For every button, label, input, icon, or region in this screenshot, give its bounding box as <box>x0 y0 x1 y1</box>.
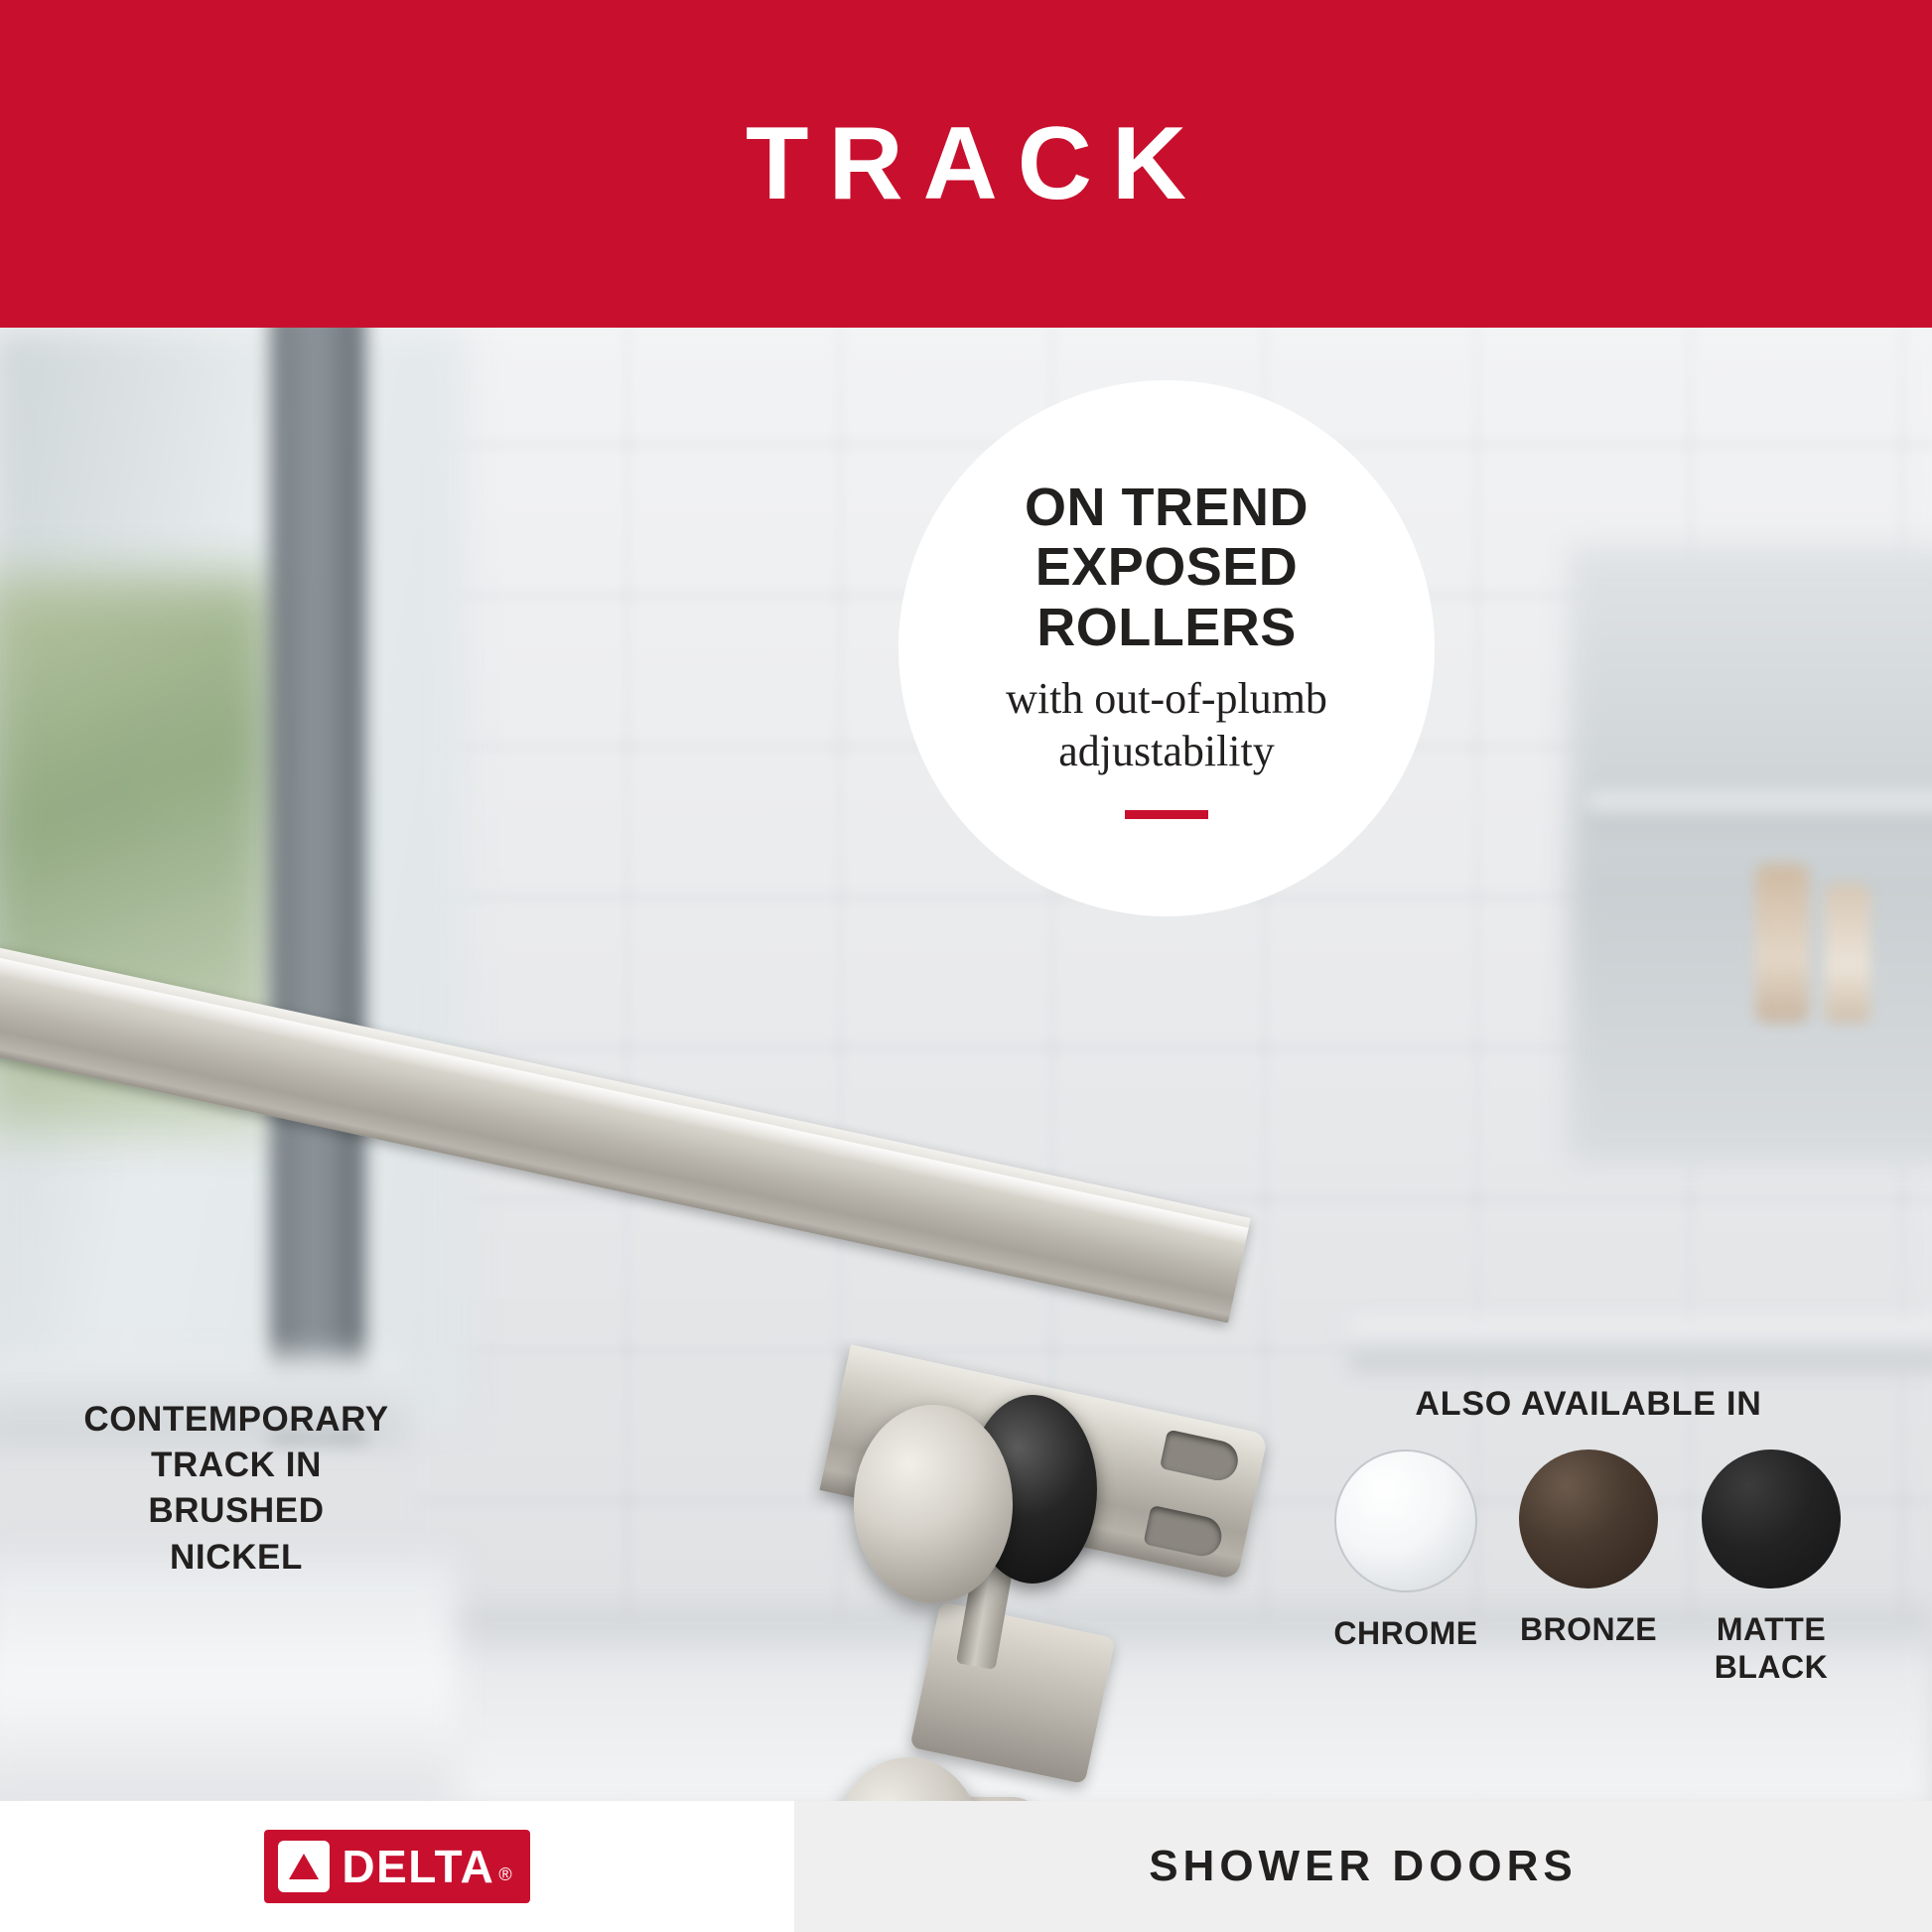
top-banner: TRACK <box>0 0 1932 328</box>
callout-heading-line-2: EXPOSED ROLLERS <box>898 537 1435 657</box>
finish-option-chrome: CHROME <box>1336 1449 1475 1687</box>
callout-subheading-line-1: with out-of-plumb <box>1006 673 1327 726</box>
matte-black-swatch-icon <box>1702 1449 1841 1588</box>
caption-line-2: TRACK IN <box>77 1443 395 1488</box>
guide-hook-disc <box>834 1757 983 1801</box>
finish-option-bronze: BRONZE <box>1519 1449 1658 1687</box>
delta-logo: DELTA ® <box>264 1830 529 1903</box>
page-title: TRACK <box>726 105 1206 223</box>
available-finishes: ALSO AVAILABLE IN CHROME BRONZE MATTE BL… <box>1320 1385 1857 1687</box>
product-hero-image: TRACK <box>0 0 1932 1932</box>
registered-trademark-icon: ® <box>498 1864 511 1885</box>
callout-subheading-line-2: adjustability <box>1006 726 1327 778</box>
footer-tagline: SHOWER DOORS <box>1149 1842 1578 1891</box>
delta-wordmark: DELTA <box>342 1840 494 1893</box>
caption-line-1: CONTEMPORARY <box>77 1397 395 1443</box>
callout-heading: ON TREND EXPOSED ROLLERS <box>898 478 1435 657</box>
finishes-title: ALSO AVAILABLE IN <box>1320 1385 1857 1424</box>
roller-bracket-plate <box>909 1601 1115 1784</box>
caption-line-3: BRUSHED NICKEL <box>77 1488 395 1580</box>
chrome-swatch-label: CHROME <box>1333 1614 1477 1652</box>
callout-divider-rule <box>1125 810 1208 819</box>
delta-triangle-icon <box>278 1841 330 1892</box>
finish-swatch-row: CHROME BRONZE MATTE BLACK <box>1320 1449 1857 1687</box>
feature-callout: ON TREND EXPOSED ROLLERS with out-of-plu… <box>898 380 1435 916</box>
matte-black-swatch-label: MATTE BLACK <box>1715 1610 1828 1687</box>
roller-cap-nickel <box>854 1405 1013 1603</box>
callout-heading-line-1: ON TREND <box>898 478 1435 537</box>
finish-option-matte-black: MATTE BLACK <box>1702 1449 1841 1687</box>
bronze-swatch-label: BRONZE <box>1520 1610 1657 1648</box>
footer-brand-area: DELTA ® <box>0 1801 794 1932</box>
bronze-swatch-icon <box>1519 1449 1658 1588</box>
chrome-swatch-icon <box>1334 1449 1477 1592</box>
footer-bar: DELTA ® SHOWER DOORS <box>0 1801 1932 1932</box>
matte-black-label-line-2: BLACK <box>1715 1648 1828 1686</box>
track-bar <box>0 924 1251 1322</box>
product-photo: ON TREND EXPOSED ROLLERS with out-of-plu… <box>0 328 1932 1801</box>
footer-tagline-area: SHOWER DOORS <box>794 1801 1932 1932</box>
track-bar-highlight <box>0 934 1249 1245</box>
track-finish-caption: CONTEMPORARY TRACK IN BRUSHED NICKEL <box>77 1397 395 1581</box>
matte-black-label-line-1: MATTE <box>1715 1610 1828 1648</box>
callout-subheading: with out-of-plumb adjustability <box>1006 673 1327 778</box>
